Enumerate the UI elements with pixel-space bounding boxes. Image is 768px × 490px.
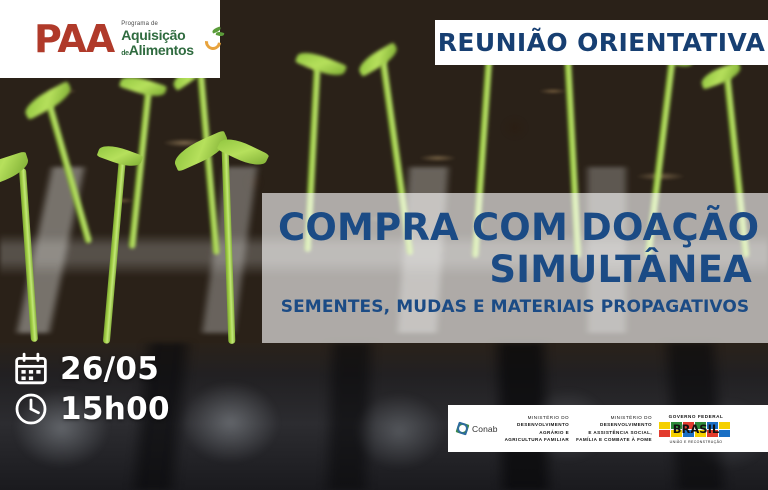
sprout-bg-2 bbox=[128, 84, 154, 249]
ministry-social-logo: MINISTÉRIO DO DESENVOLVIMENTO E ASSISTÊN… bbox=[576, 414, 652, 442]
paa-aquisicao-label: Aquisição bbox=[121, 28, 194, 43]
title-subtitle: SEMENTES, MUDAS E MATERIAIS PROPAGATIVOS bbox=[278, 297, 752, 317]
meeting-banner-label: REUNIÃO ORIENTATIVA bbox=[438, 28, 765, 57]
sprout-fg-1 bbox=[16, 168, 42, 342]
title-line-2: SIMULTÂNEA bbox=[278, 249, 752, 291]
brasil-government-logo-icon: BRASIL bbox=[659, 420, 733, 439]
orange-leaf-icon bbox=[203, 26, 220, 52]
ministry-agrarian-line-4: AGRICULTURA FAMILIAR bbox=[505, 436, 570, 443]
calendar-icon bbox=[14, 352, 48, 386]
svg-text:BRASIL: BRASIL bbox=[673, 422, 720, 436]
government-bottom-label: UNIÃO E RECONSTRUÇÃO bbox=[659, 440, 733, 444]
government-top-label: GOVERNO FEDERAL bbox=[659, 414, 733, 419]
ministry-social-line-3: E ASSISTÊNCIA SOCIAL, bbox=[576, 429, 652, 436]
paa-programa-label: Programa de bbox=[121, 21, 194, 27]
footer-logo-bar: Conab MINISTÉRIO DO DESENVOLVIMENTO AGRÁ… bbox=[448, 405, 768, 452]
sprout-fg-3 bbox=[216, 148, 242, 344]
ministry-social-line-4: FAMÍLIA E COMBATE À FOME bbox=[576, 436, 652, 443]
conab-logo-icon bbox=[456, 422, 469, 435]
paa-acronym: PAA bbox=[34, 20, 114, 58]
paa-alimentos-line: deAlimentos bbox=[121, 43, 194, 58]
sprout-fg-2 bbox=[102, 154, 128, 344]
meeting-banner: REUNIÃO ORIENTATIVA bbox=[435, 20, 768, 65]
ministry-agrarian-logo: MINISTÉRIO DO DESENVOLVIMENTO AGRÁRIO E … bbox=[505, 414, 570, 442]
promotional-poster: PAA Programa de Aquisição deAlimentos RE… bbox=[0, 0, 768, 490]
ministry-agrarian-line-3: AGRÁRIO E bbox=[505, 429, 570, 436]
paa-logo: PAA Programa de Aquisição deAlimentos bbox=[0, 0, 220, 78]
paa-alimentos-label: Alimentos bbox=[129, 42, 194, 58]
event-time: 15h00 bbox=[60, 394, 170, 425]
paa-wordmark: Programa de Aquisição deAlimentos bbox=[121, 21, 194, 57]
event-date: 26/05 bbox=[60, 354, 159, 385]
title-line-1: COMPRA COM DOAÇÃO bbox=[278, 207, 752, 249]
sprout-bg-1 bbox=[54, 96, 84, 246]
clock-icon bbox=[14, 392, 48, 426]
ministry-social-line-2: DESENVOLVIMENTO bbox=[576, 421, 652, 428]
event-date-row: 26/05 bbox=[14, 352, 170, 386]
conab-label: Conab bbox=[472, 424, 498, 434]
ministry-social-line-1: MINISTÉRIO DO bbox=[576, 414, 652, 421]
government-logo: GOVERNO FEDERAL BRASIL UNIÃO E RECONSTRU… bbox=[659, 414, 733, 444]
ministry-agrarian-line-1: MINISTÉRIO DO bbox=[505, 414, 570, 421]
conab-logo: Conab bbox=[456, 422, 498, 435]
event-time-row: 15h00 bbox=[14, 392, 170, 426]
ministry-agrarian-line-2: DESENVOLVIMENTO bbox=[505, 421, 570, 428]
event-details: 26/05 15h00 bbox=[14, 352, 170, 426]
paa-de-label: de bbox=[121, 50, 129, 57]
title-panel: COMPRA COM DOAÇÃO SIMULTÂNEA SEMENTES, M… bbox=[262, 193, 768, 343]
